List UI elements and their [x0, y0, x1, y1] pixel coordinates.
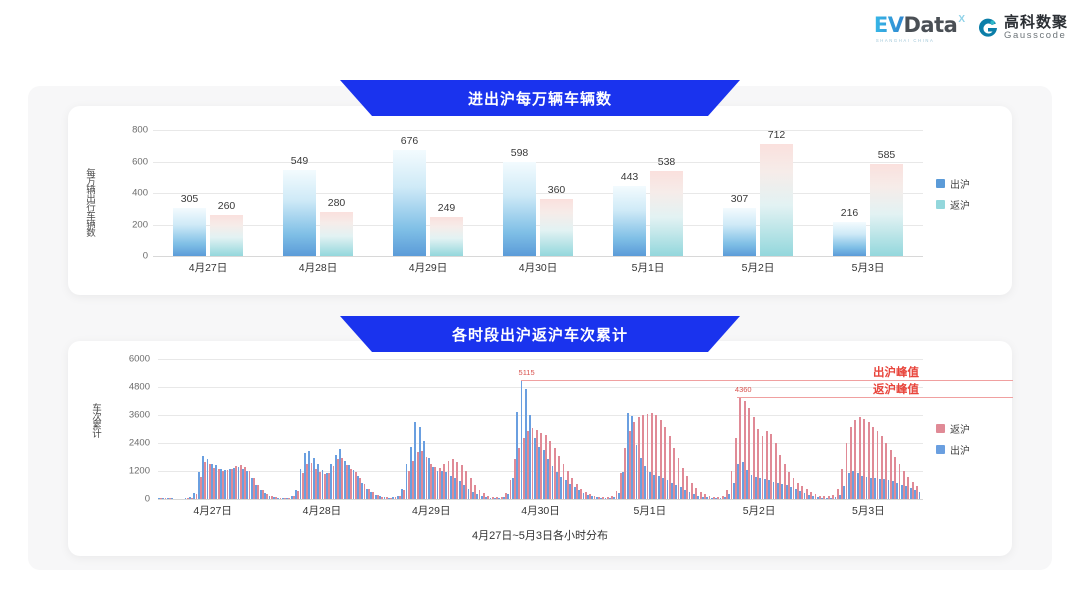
chart-2-plot-area: 5115出沪峰值4360返沪峰值 [158, 359, 923, 499]
x-tick-label: 4月27日 [193, 503, 232, 518]
bar-出沪[interactable]: 676 [393, 150, 426, 256]
bar-value-label: 280 [328, 197, 346, 209]
bar-group: 307712 [723, 130, 793, 256]
bar-value-label: 538 [658, 156, 676, 168]
x-tick-label: 5月1日 [632, 260, 665, 275]
bar-value-label: 585 [878, 149, 896, 161]
y-tick-label: 1200 [129, 466, 150, 477]
y-tick-label: 6000 [129, 354, 150, 365]
evdata-data-text: Data [904, 13, 958, 37]
evdata-wordmark: EV Data X [874, 13, 965, 37]
y-tick-label: 400 [132, 188, 148, 199]
legend-item-返沪[interactable]: 返沪 [936, 421, 970, 436]
chart-2-title: 各时段出沪返沪车次累计 [452, 324, 628, 345]
chart-1-y-axis-label: 每万辆出行车辆数 [82, 168, 96, 236]
chart-2-y-ticks: 012002400360048006000 [106, 359, 150, 499]
y-tick-label: 0 [145, 494, 150, 505]
bar-出沪[interactable]: 443 [613, 186, 646, 256]
chart-1-title: 进出沪每万辆车辆数 [468, 88, 612, 109]
x-tick-label: 4月29日 [409, 260, 448, 275]
gausscode-cn-name: 高科数聚 [1004, 15, 1068, 31]
x-tick-label: 4月30日 [521, 503, 560, 518]
bar-group: 598360 [503, 130, 573, 256]
legend-label: 出沪 [950, 176, 970, 191]
bar-value-label: 260 [218, 200, 236, 212]
legend-item-出沪[interactable]: 出沪 [936, 176, 970, 191]
bar-返沪[interactable]: 712 [760, 144, 793, 256]
peak-line-出沪峰值 [521, 380, 1013, 381]
gausscode-text: 高科数聚 Gausscode [1004, 15, 1068, 41]
chart-2-axis-line [158, 499, 923, 500]
bar-返沪[interactable]: 260 [210, 215, 243, 256]
gausscode-g-icon [977, 17, 999, 39]
bar-value-label: 307 [731, 193, 749, 205]
chart-title-ribbon-2: 各时段出沪返沪车次累计 [340, 316, 740, 352]
bar-value-label: 549 [291, 155, 309, 167]
chart-2: 车次累计 012002400360048006000 5115出沪峰值4360返… [68, 341, 1012, 556]
bar-出沪[interactable]: 307 [723, 208, 756, 256]
y-tick-label: 200 [132, 219, 148, 230]
bar-group: 216585 [833, 130, 903, 256]
bar-group: 676249 [393, 130, 463, 256]
legend-swatch [936, 424, 945, 433]
bar-出沪[interactable]: 598 [503, 162, 536, 256]
gausscode-en-name: Gausscode [1004, 31, 1068, 41]
x-tick-label: 5月1日 [633, 503, 666, 518]
legend-label: 出沪 [950, 442, 970, 457]
legend-item-出沪[interactable]: 出沪 [936, 442, 970, 457]
bar-value-label: 676 [401, 135, 419, 147]
bar-返沪[interactable]: 249 [430, 217, 463, 256]
x-tick-label: 4月27日 [189, 260, 228, 275]
bar-value-label: 598 [511, 147, 529, 159]
chart-2-y-axis-label: 车次累计 [88, 403, 102, 437]
hour-bar-chu [919, 492, 921, 499]
y-tick-label: 600 [132, 156, 148, 167]
peak-value-label: 5115 [519, 368, 535, 377]
evdata-tagline: SHANGHAI CHINA [876, 38, 934, 43]
legend-swatch [936, 200, 945, 209]
peak-value-label: 4360 [735, 385, 752, 394]
bar-出沪[interactable]: 305 [173, 208, 206, 256]
legend-item-返沪[interactable]: 返沪 [936, 197, 970, 212]
y-tick-label: 4800 [129, 382, 150, 393]
legend-label: 返沪 [950, 197, 970, 212]
bar-出沪[interactable]: 216 [833, 222, 866, 256]
evdata-ev-text: EV [874, 13, 904, 37]
y-tick-label: 800 [132, 125, 148, 136]
evdata-x-superscript-icon: X [958, 14, 965, 25]
chart-2-x-labels: 4月27日4月28日4月29日4月30日5月1日5月2日5月3日 [158, 503, 923, 521]
chart-title-ribbon-1: 进出沪每万辆车辆数 [340, 80, 740, 116]
chart-1-x-labels: 4月27日4月28日4月29日4月30日5月1日5月2日5月3日 [153, 260, 923, 280]
x-tick-label: 4月28日 [299, 260, 338, 275]
chart-2-caption: 4月27日~5月3日各小时分布 [68, 527, 1012, 543]
evdata-logo: EV Data X SHANGHAI CHINA [874, 13, 965, 43]
legend-swatch [936, 445, 945, 454]
peak-tag-出沪峰值: 出沪峰值 [873, 364, 919, 380]
x-tick-label: 5月2日 [743, 503, 776, 518]
bar-value-label: 360 [548, 184, 566, 196]
y-tick-label: 2400 [129, 438, 150, 449]
bar-返沪[interactable]: 360 [540, 199, 573, 256]
bar-group: 549280 [283, 130, 353, 256]
chart-1: 每万辆出行车辆数 0200400600800 30526054928067624… [68, 106, 1012, 295]
y-tick-label: 3600 [129, 410, 150, 421]
bar-出沪[interactable]: 549 [283, 170, 316, 256]
x-tick-label: 5月3日 [852, 503, 885, 518]
bar-value-label: 216 [841, 207, 859, 219]
gausscode-logo: 高科数聚 Gausscode [977, 15, 1068, 41]
x-tick-label: 5月2日 [742, 260, 775, 275]
x-tick-label: 5月3日 [852, 260, 885, 275]
peak-line-返沪峰值 [737, 397, 1013, 398]
chart-2-legend[interactable]: 返沪出沪 [936, 421, 970, 457]
bar-value-label: 712 [768, 129, 786, 141]
bar-value-label: 443 [621, 171, 639, 183]
bar-value-label: 305 [181, 193, 199, 205]
bar-value-label: 249 [438, 202, 456, 214]
legend-swatch [936, 179, 945, 188]
bar-返沪[interactable]: 585 [870, 164, 903, 256]
legend-label: 返沪 [950, 421, 970, 436]
x-tick-label: 4月28日 [303, 503, 342, 518]
chart-1-axis-line [153, 256, 923, 257]
y-tick-label: 0 [143, 251, 148, 262]
brand-logos: EV Data X SHANGHAI CHINA 高科数聚 Gausscode [874, 13, 1068, 43]
chart-1-legend[interactable]: 出沪返沪 [936, 176, 970, 212]
chart-1-plot-area: 3052605492806762495983604435383077122165… [153, 130, 923, 256]
bar-返沪[interactable]: 280 [320, 212, 353, 256]
bar-group: 443538 [613, 130, 683, 256]
x-tick-label: 4月29日 [412, 503, 451, 518]
peak-tag-返沪峰值: 返沪峰值 [873, 381, 919, 397]
bar-group: 305260 [173, 130, 243, 256]
x-tick-label: 4月30日 [519, 260, 558, 275]
slide-root: EV Data X SHANGHAI CHINA 高科数聚 Gausscode … [0, 0, 1080, 608]
chart-1-y-ticks: 0200400600800 [106, 130, 148, 256]
bar-返沪[interactable]: 538 [650, 171, 683, 256]
